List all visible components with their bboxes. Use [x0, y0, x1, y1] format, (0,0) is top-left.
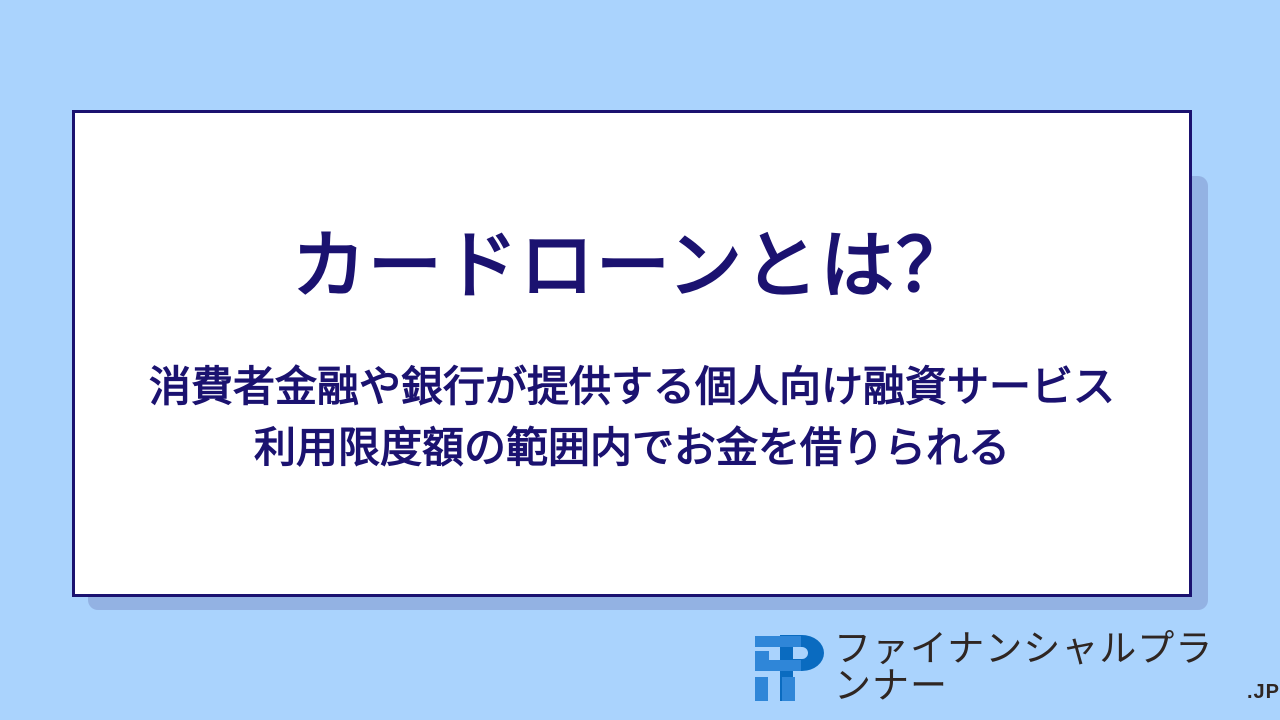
card-inner: カードローンとは？ 消費者金融や銀行が提供する個人向け融資サービス 利用限度額の… — [75, 113, 1189, 594]
logo-text-wrap: ファイナンシャルプランナー .JP — [834, 630, 1280, 706]
subtitle-block: 消費者金融や銀行が提供する個人向け融資サービス 利用限度額の範囲内でお金を借りら… — [149, 357, 1115, 479]
subtitle-line-2: 利用限度額の範囲内でお金を借りられる — [149, 418, 1115, 479]
slide-canvas: カードローンとは？ 消費者金融や銀行が提供する個人向け融資サービス 利用限度額の… — [0, 0, 1280, 720]
fp-logo-mark-icon — [752, 635, 824, 701]
logo-tld: .JP — [1247, 682, 1280, 704]
site-logo[interactable]: ファイナンシャルプランナー .JP — [752, 632, 1280, 704]
content-card: カードローンとは？ 消費者金融や銀行が提供する個人向け融資サービス 利用限度額の… — [72, 110, 1192, 597]
page-title: カードローンとは？ — [292, 228, 972, 306]
logo-wordmark: ファイナンシャルプランナー — [834, 630, 1245, 704]
subtitle-line-1: 消費者金融や銀行が提供する個人向け融資サービス — [149, 357, 1115, 418]
